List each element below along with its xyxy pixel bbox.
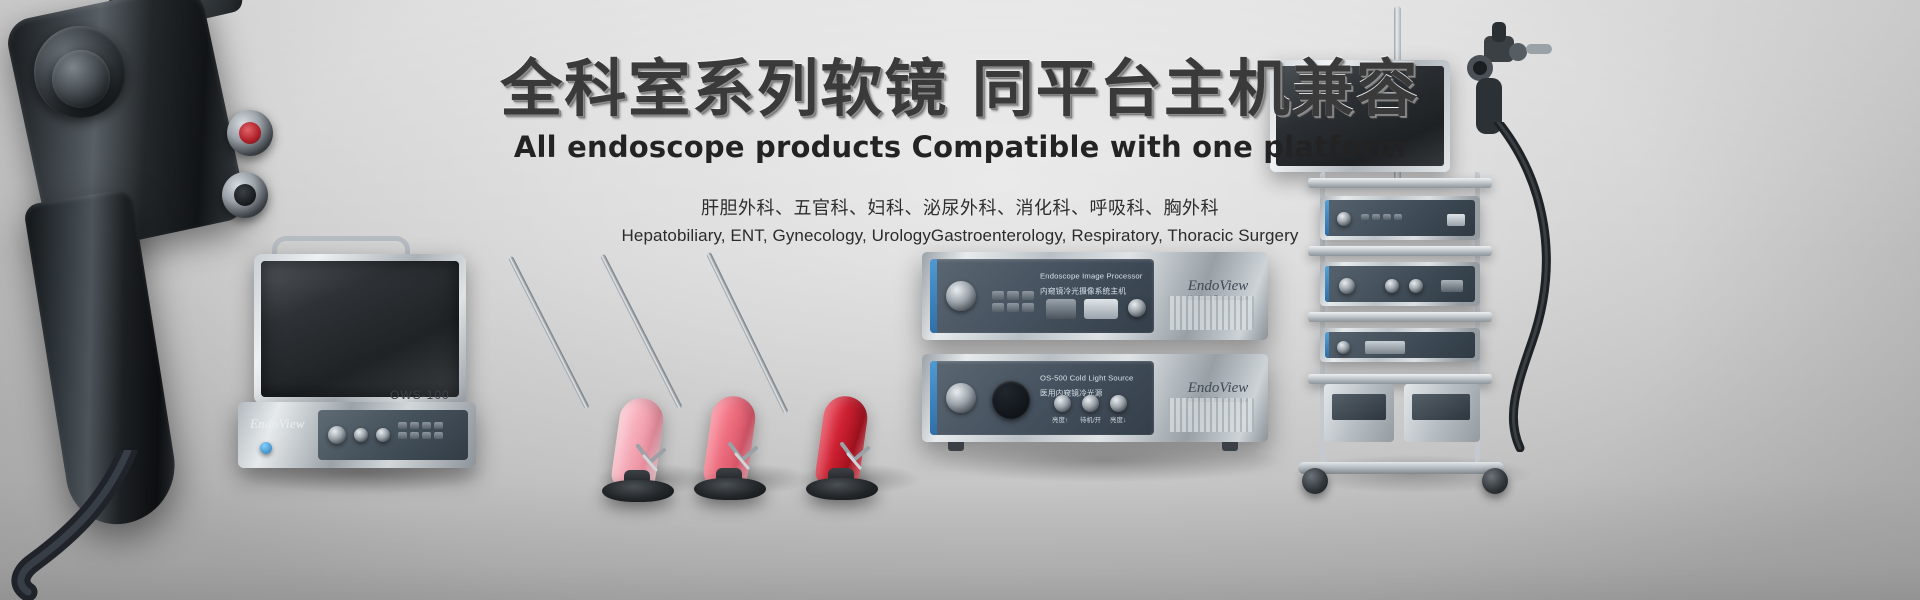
cart-shelf-2 <box>1308 246 1492 256</box>
processor-unit-bottom-stripe <box>930 361 937 435</box>
monitor-unit-product-image: EndoView OWS-100 <box>232 242 477 472</box>
processor-unit-bottom: OS-500 Cold Light Source 医用内窥镜冷光源 亮度↑ 待机… <box>922 354 1268 442</box>
cart-unit-3-face <box>1325 332 1475 358</box>
processor-unit-bottom-btn-label-3: 亮度↓ <box>1110 415 1126 424</box>
cart-unit-2 <box>1320 262 1480 306</box>
monitor-control-panel <box>318 410 468 460</box>
processor-unit-top-vent <box>1168 296 1254 330</box>
cart-unit-2-btn-1 <box>1385 279 1399 293</box>
instrument-red <box>706 254 876 488</box>
cart-unit-2-face <box>1325 266 1475 302</box>
instrument-pink-shaft <box>508 256 590 410</box>
monitor-knob-2 <box>354 428 368 442</box>
instrument-red-tip-icon <box>838 442 874 472</box>
cart-unit-2-knob <box>1339 278 1355 294</box>
cart-shelf-3 <box>1308 312 1492 322</box>
processor-foot-left <box>948 442 964 451</box>
cart-box-left <box>1324 384 1394 442</box>
processor-unit-bottom-face: OS-500 Cold Light Source 医用内窥镜冷光源 亮度↑ 待机… <box>930 361 1154 435</box>
processor-unit-top: Endoscope Image Processor 内窥镜冷光摄像系统主机 En… <box>922 252 1268 340</box>
processor-unit-top-keypad <box>992 291 1034 312</box>
cart-wheel-left <box>1302 468 1328 494</box>
cart-unit-3-knob <box>1337 341 1350 354</box>
processor-unit-bottom-btn-label-1: 亮度↑ <box>1052 415 1068 424</box>
cart-unit-2-btn-2 <box>1409 279 1423 293</box>
processor-unit-top-title-cn: 内窥镜冷光摄像系统主机 <box>1040 285 1126 296</box>
banner-headline: 全科室系列软镜 同平台主机兼容 <box>0 54 1920 123</box>
endoscope-insertion-tube <box>10 450 200 600</box>
processor-unit-top-brand-name: EndoView <box>1184 278 1252 295</box>
processor-unit-top-port-2 <box>1084 299 1118 319</box>
monitor-brand-label: EndoView <box>250 416 305 432</box>
product-banner: EndoView OWS-100 <box>0 0 1920 600</box>
cart-box-right <box>1404 384 1480 442</box>
processor-unit-bottom-btn-2 <box>1082 395 1099 412</box>
processor-foot-right <box>1222 442 1238 451</box>
cart-wheel-right <box>1482 468 1508 494</box>
processor-unit-bottom-btn-1 <box>1054 395 1071 412</box>
processor-unit-top-aux-knob <box>1128 299 1146 317</box>
banner-departments-cn: 肝胆外科、五官科、妇科、泌尿外科、消化科、呼吸科、胸外科 <box>0 194 1920 220</box>
monitor-knob-1 <box>328 426 346 444</box>
cart-unit-3-display <box>1365 341 1405 354</box>
processor-unit-top-stripe <box>930 259 937 333</box>
monitor-base-chassis: EndoView OWS-100 <box>238 402 476 468</box>
processor-unit-bottom-btn-label-2: 待机/开 <box>1080 415 1101 424</box>
cart-unit-2-port <box>1441 280 1463 292</box>
monitor-screen <box>261 261 459 397</box>
monitor-knob-3 <box>376 428 390 442</box>
processor-unit-bottom-vent <box>1168 398 1254 432</box>
banner-text-block: 全科室系列软镜 同平台主机兼容 All endoscope products C… <box>0 54 1920 246</box>
processor-unit-top-port-1 <box>1046 299 1076 319</box>
banner-subheadline: All endoscope products Compatible with o… <box>0 130 1920 164</box>
processor-unit-bottom-btn-3 <box>1110 395 1127 412</box>
monitor-power-indicator <box>260 442 272 454</box>
processor-unit-bottom-brand-name: EndoView <box>1184 380 1252 397</box>
processor-unit-top-main-knob <box>946 281 976 311</box>
monitor-keypad <box>398 422 443 439</box>
instrument-salmon-shaft <box>600 254 683 410</box>
processor-unit-bottom-main-knob <box>946 383 976 413</box>
processor-unit-top-face: Endoscope Image Processor 内窥镜冷光摄像系统主机 <box>930 259 1154 333</box>
cart-unit-3 <box>1320 328 1480 362</box>
cart-unit-2-stripe <box>1325 266 1329 302</box>
instrument-red-shaft <box>706 252 789 414</box>
monitor-model-label: OWS-100 <box>390 388 450 402</box>
cart-base-bar <box>1298 462 1504 474</box>
cart-box-right-screen <box>1412 394 1470 420</box>
processor-unit-bottom-dial <box>992 381 1030 419</box>
processor-unit-top-title-en: Endoscope Image Processor <box>1040 272 1142 281</box>
monitor-bezel <box>254 254 466 404</box>
stacked-processor-units: Endoscope Image Processor 内窥镜冷光摄像系统主机 En… <box>922 252 1272 452</box>
processor-unit-bottom-title-en: OS-500 Cold Light Source <box>1040 374 1133 383</box>
cart-shelf-4 <box>1308 374 1492 384</box>
cart-unit-3-stripe <box>1325 332 1329 358</box>
cart-box-left-screen <box>1332 394 1386 420</box>
instrument-red-stand <box>806 478 878 500</box>
banner-departments-en: Hepatobiliary, ENT, Gynecology, UrologyG… <box>0 226 1920 246</box>
